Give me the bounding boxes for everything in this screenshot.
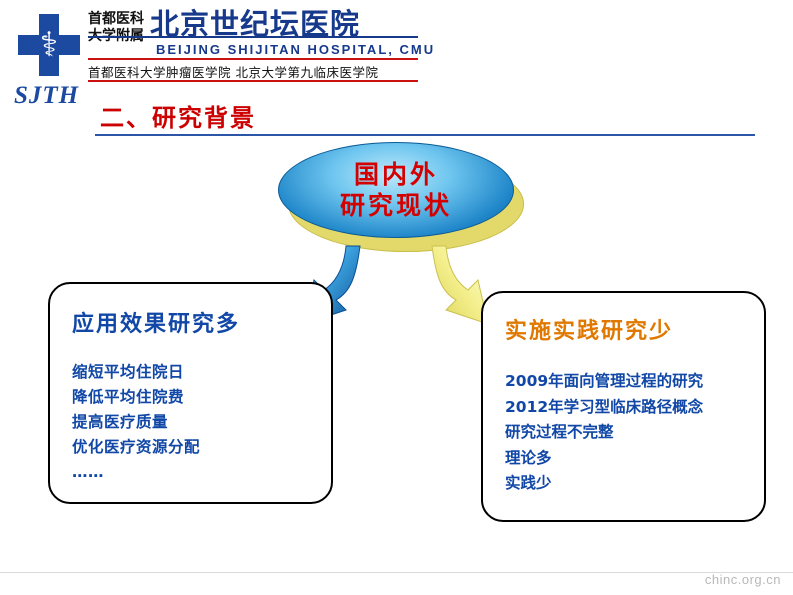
- list-item: 实践少: [505, 471, 703, 497]
- header-divider-red-bottom: [88, 80, 418, 82]
- list-item: ……: [72, 460, 200, 485]
- hospital-affiliation-text: 首都医科 大学附属: [88, 8, 144, 45]
- list-item: 2012年学习型临床路径概念: [505, 395, 703, 421]
- slide: ⚕ SJTH 首都医科 大学附属 北京世纪坛医院 BEIJING SHIJITA…: [0, 0, 793, 595]
- sjth-logo-text: SJTH: [14, 82, 79, 110]
- right-box-bullets: 2009年面向管理过程的研究 2012年学习型临床路径概念 研究过程不完整 理论…: [505, 369, 703, 497]
- page-title: 二、研究背景: [100, 98, 256, 133]
- title-underline: [95, 134, 755, 136]
- caduceus-glyph: ⚕: [33, 24, 65, 66]
- left-content-box: 应用效果研究多 缩短平均住院日 降低平均住院费 提高医疗质量 优化医疗资源分配 …: [48, 282, 333, 504]
- list-item: 缩短平均住院日: [72, 360, 200, 385]
- list-item: 降低平均住院费: [72, 385, 200, 410]
- list-item: 提高医疗质量: [72, 410, 200, 435]
- hospital-name-en: BEIJING SHIJITAN HOSPITAL, CMU: [156, 42, 435, 57]
- left-box-bullets: 缩短平均住院日 降低平均住院费 提高医疗质量 优化医疗资源分配 ……: [72, 360, 200, 485]
- footer-divider: [0, 572, 793, 573]
- arrow-down-right-icon: [412, 244, 492, 344]
- hospital-affiliation-line1: 首都医科: [88, 11, 144, 28]
- header-divider-red-top: [88, 58, 418, 60]
- watermark-text: chinc.org.cn: [705, 572, 781, 587]
- right-content-box: 实施实践研究少 2009年面向管理过程的研究 2012年学习型临床路径概念 研究…: [481, 291, 766, 522]
- list-item: 研究过程不完整: [505, 420, 703, 446]
- hospital-name-group: 首都医科 大学附属 北京世纪坛医院: [88, 8, 360, 45]
- left-box-heading: 应用效果研究多: [72, 306, 240, 338]
- medical-cross-icon: ⚕: [18, 14, 80, 76]
- list-item: 优化医疗资源分配: [72, 435, 200, 460]
- slide-header: ⚕ SJTH 首都医科 大学附属 北京世纪坛医院 BEIJING SHIJITA…: [0, 0, 793, 92]
- header-divider-blue: [88, 36, 418, 38]
- list-item: 2009年面向管理过程的研究: [505, 369, 703, 395]
- list-item: 理论多: [505, 446, 703, 472]
- center-oval: 国内外 研究现状: [278, 142, 514, 238]
- hospital-subtitle: 首都医科大学肿瘤医学院 北京大学第九临床医学院: [88, 62, 378, 81]
- right-box-heading: 实施实践研究少: [505, 313, 673, 345]
- center-oval-line2: 研究现状: [340, 190, 452, 221]
- center-oval-line1: 国内外: [354, 159, 438, 190]
